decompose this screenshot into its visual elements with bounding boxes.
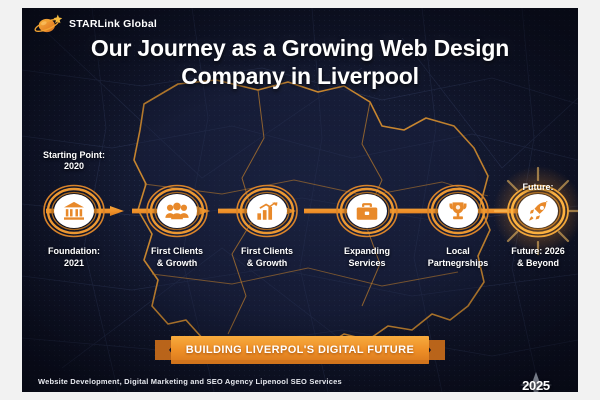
label-below-line-1: First Clients <box>125 246 229 258</box>
title-line-1: Our Journey as a Growing Web Design <box>62 34 538 62</box>
node-icon-face <box>518 194 558 228</box>
node-label-below-expanding-services: Expanding Services <box>315 246 419 269</box>
trophy-icon <box>448 201 468 221</box>
timeline-node-expanding-services[interactable] <box>336 180 398 242</box>
tagline-ribbon: BUILDING LIVERPOL'S DIGITAL FUTURE <box>155 336 445 373</box>
bank-building-icon <box>63 201 85 221</box>
footer-services-text: Website Development, Digital Marketing a… <box>38 377 342 386</box>
label-below-line-2: & Growth <box>125 258 229 270</box>
infographic-panel: STARLink Global Our Journey as a Growing… <box>22 8 578 392</box>
brand-name: STARLink Global <box>69 18 157 30</box>
label-below-line-2: 2021 <box>22 258 126 270</box>
timeline-node-first-clients-b[interactable] <box>236 180 298 242</box>
label-above-line-1: Starting Point: <box>22 150 130 161</box>
label-above-line-2: 2020 <box>22 161 130 172</box>
timeline-node-foundation[interactable] <box>43 180 105 242</box>
node-label-above-future: Future: <box>482 182 578 193</box>
node-label-below-first-clients-a: First Clients & Growth <box>125 246 229 269</box>
title-line-2: Company in Liverpool <box>62 62 538 90</box>
label-below-line-1: Foundation: <box>22 246 126 258</box>
label-below-line-2: Services <box>315 258 419 270</box>
timeline-node-local-partnerships[interactable] <box>427 180 489 242</box>
briefcase-icon <box>356 202 378 221</box>
label-below-line-1: Expanding <box>315 246 419 258</box>
node-label-below-first-clients-b: First Clients & Growth <box>215 246 319 269</box>
node-label-above-foundation: Starting Point: 2020 <box>22 150 130 173</box>
page-title: Our Journey as a Growing Web Design Comp… <box>22 34 578 90</box>
node-label-below-future: Future: 2026 & Beyond <box>486 246 578 269</box>
node-icon-face <box>54 194 94 228</box>
label-below-line-2: & Growth <box>215 258 319 270</box>
people-group-icon <box>165 202 189 220</box>
node-icon-face <box>347 194 387 228</box>
node-label-below-foundation: Foundation: 2021 <box>22 246 126 269</box>
bar-chart-growth-icon <box>256 202 278 221</box>
label-above-line-1: Future: <box>482 182 578 193</box>
node-icon-face <box>438 194 478 228</box>
rocket-icon <box>528 201 549 222</box>
node-icon-face <box>157 194 197 228</box>
planet-star-icon <box>34 13 64 35</box>
infographic-root: STARLink Global Our Journey as a Growing… <box>0 0 600 400</box>
brand-logo[interactable]: STARLink Global <box>34 13 157 35</box>
timeline-node-first-clients-a[interactable] <box>146 180 208 242</box>
year-badge: 2025 <box>508 372 564 392</box>
label-below-line-1: First Clients <box>215 246 319 258</box>
node-icon-face <box>247 194 287 228</box>
year-label: 2025 <box>508 372 564 392</box>
ribbon-shape <box>155 336 445 368</box>
label-below-line-2: & Beyond <box>486 258 578 270</box>
label-below-line-1: Future: 2026 <box>486 246 578 258</box>
